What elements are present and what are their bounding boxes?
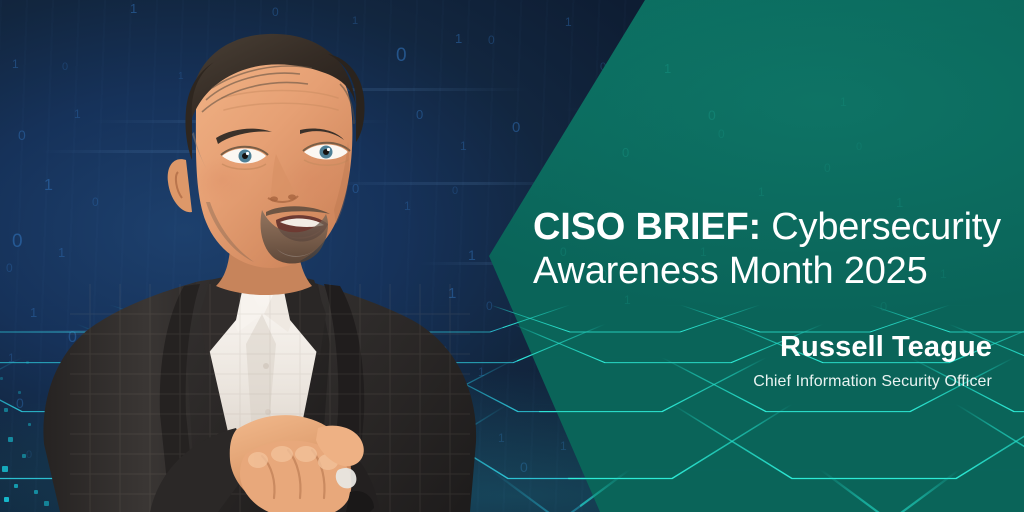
title-bold-part: CISO BRIEF: [533,206,761,248]
title-line-2: Awareness Month 2025 [533,249,1013,293]
presenter-role: Chief Information Security Officer [472,371,992,393]
title-light-part: Cybersecurity [761,206,1001,248]
presenter-name: Russell Teague [472,330,992,364]
banner-title: CISO BRIEF: Cybersecurity Awareness Mont… [533,205,1013,293]
title-line-1: CISO BRIEF: Cybersecurity [533,205,1013,249]
presenter-block: Russell Teague Chief Information Securit… [472,330,992,393]
portrait-photo [0,14,520,512]
ciso-brief-banner: 1010101101001101010101010010101010101010… [0,0,1024,512]
